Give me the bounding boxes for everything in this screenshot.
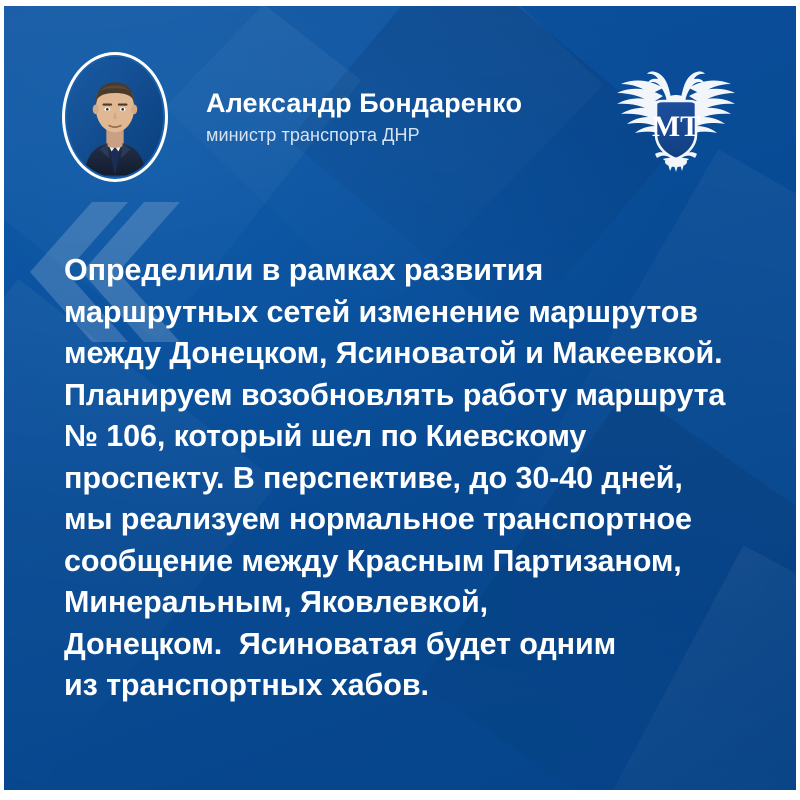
person-name: Александр Бондаренко: [206, 88, 522, 119]
card-header: Александр Бондаренко министр транспорта …: [4, 6, 796, 211]
person-info: Александр Бондаренко министр транспорта …: [206, 88, 522, 146]
quote-line: Донецком. Ясиноватая будет одним: [64, 624, 764, 666]
avatar-photo: [67, 57, 163, 177]
person-role: министр транспорта ДНР: [206, 125, 522, 146]
quote-line: № 106, который шел по Киевскому: [64, 416, 764, 458]
quote-line: Минеральным, Яковлевкой,: [64, 582, 764, 624]
emblem-monogram: МТ: [652, 110, 700, 143]
quote-line: маршрутных сетей изменение маршрутов: [64, 292, 764, 334]
quote-line: проспекту. В перспективе, до 30-40 дней,: [64, 458, 764, 500]
avatar-ring: [62, 52, 168, 182]
quote-line: из транспортных хабов.: [64, 665, 764, 707]
quote-text: Определили в рамках развития маршрутных …: [64, 250, 764, 707]
card-canvas: Александр Бондаренко министр транспорта …: [4, 6, 796, 790]
avatar: [62, 52, 168, 182]
quote-line: сообщение между Красным Партизаном,: [64, 541, 764, 583]
quote-line: Планируем возобновлять работу маршрута: [64, 375, 764, 417]
quote-line: мы реализуем нормальное транспортное: [64, 499, 764, 541]
quote-line: между Донецком, Ясиноватой и Макеевкой.: [64, 333, 764, 375]
quote-card: Александр Бондаренко министр транспорта …: [0, 0, 800, 800]
quote-line: Определили в рамках развития: [64, 250, 764, 292]
ministry-emblem-icon: МТ: [611, 58, 741, 178]
